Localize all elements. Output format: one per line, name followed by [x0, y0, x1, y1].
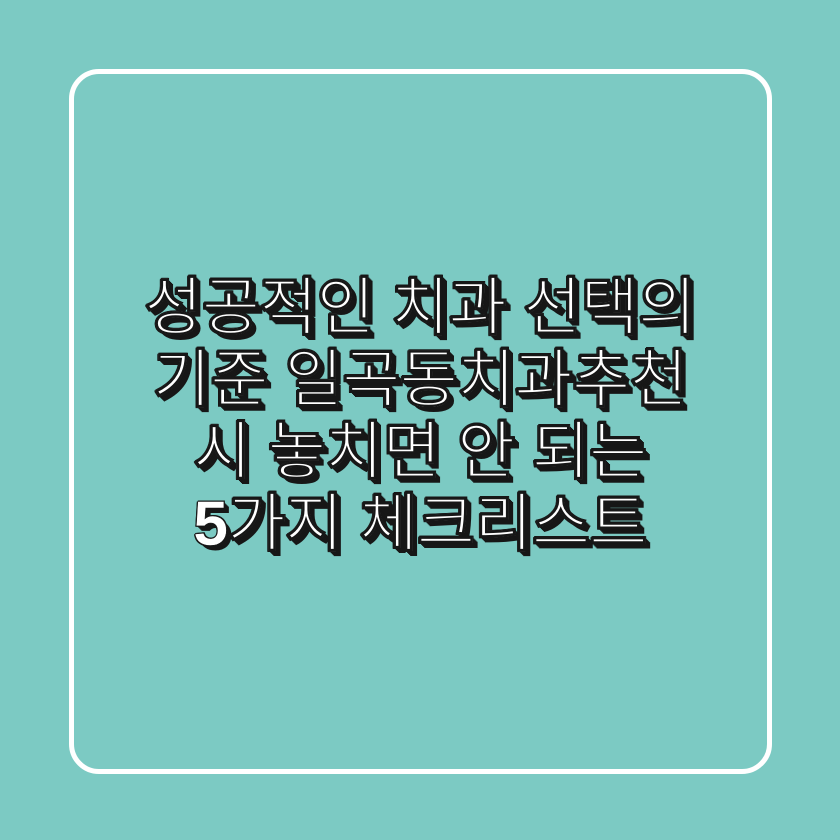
headline-line-1: 성공적인 치과 선택의 [0, 272, 840, 344]
headline-block: 성공적인 치과 선택의 기준 일곡동치과추천 시 놓치면 안 되는 5가지 체크… [0, 272, 840, 560]
banner-canvas: 성공적인 치과 선택의 기준 일곡동치과추천 시 놓치면 안 되는 5가지 체크… [0, 0, 840, 840]
headline-line-4: 5가지 체크리스트 [0, 488, 840, 560]
headline-line-3: 시 놓치면 안 되는 [0, 416, 840, 488]
headline-line-2: 기준 일곡동치과추천 [0, 344, 840, 416]
